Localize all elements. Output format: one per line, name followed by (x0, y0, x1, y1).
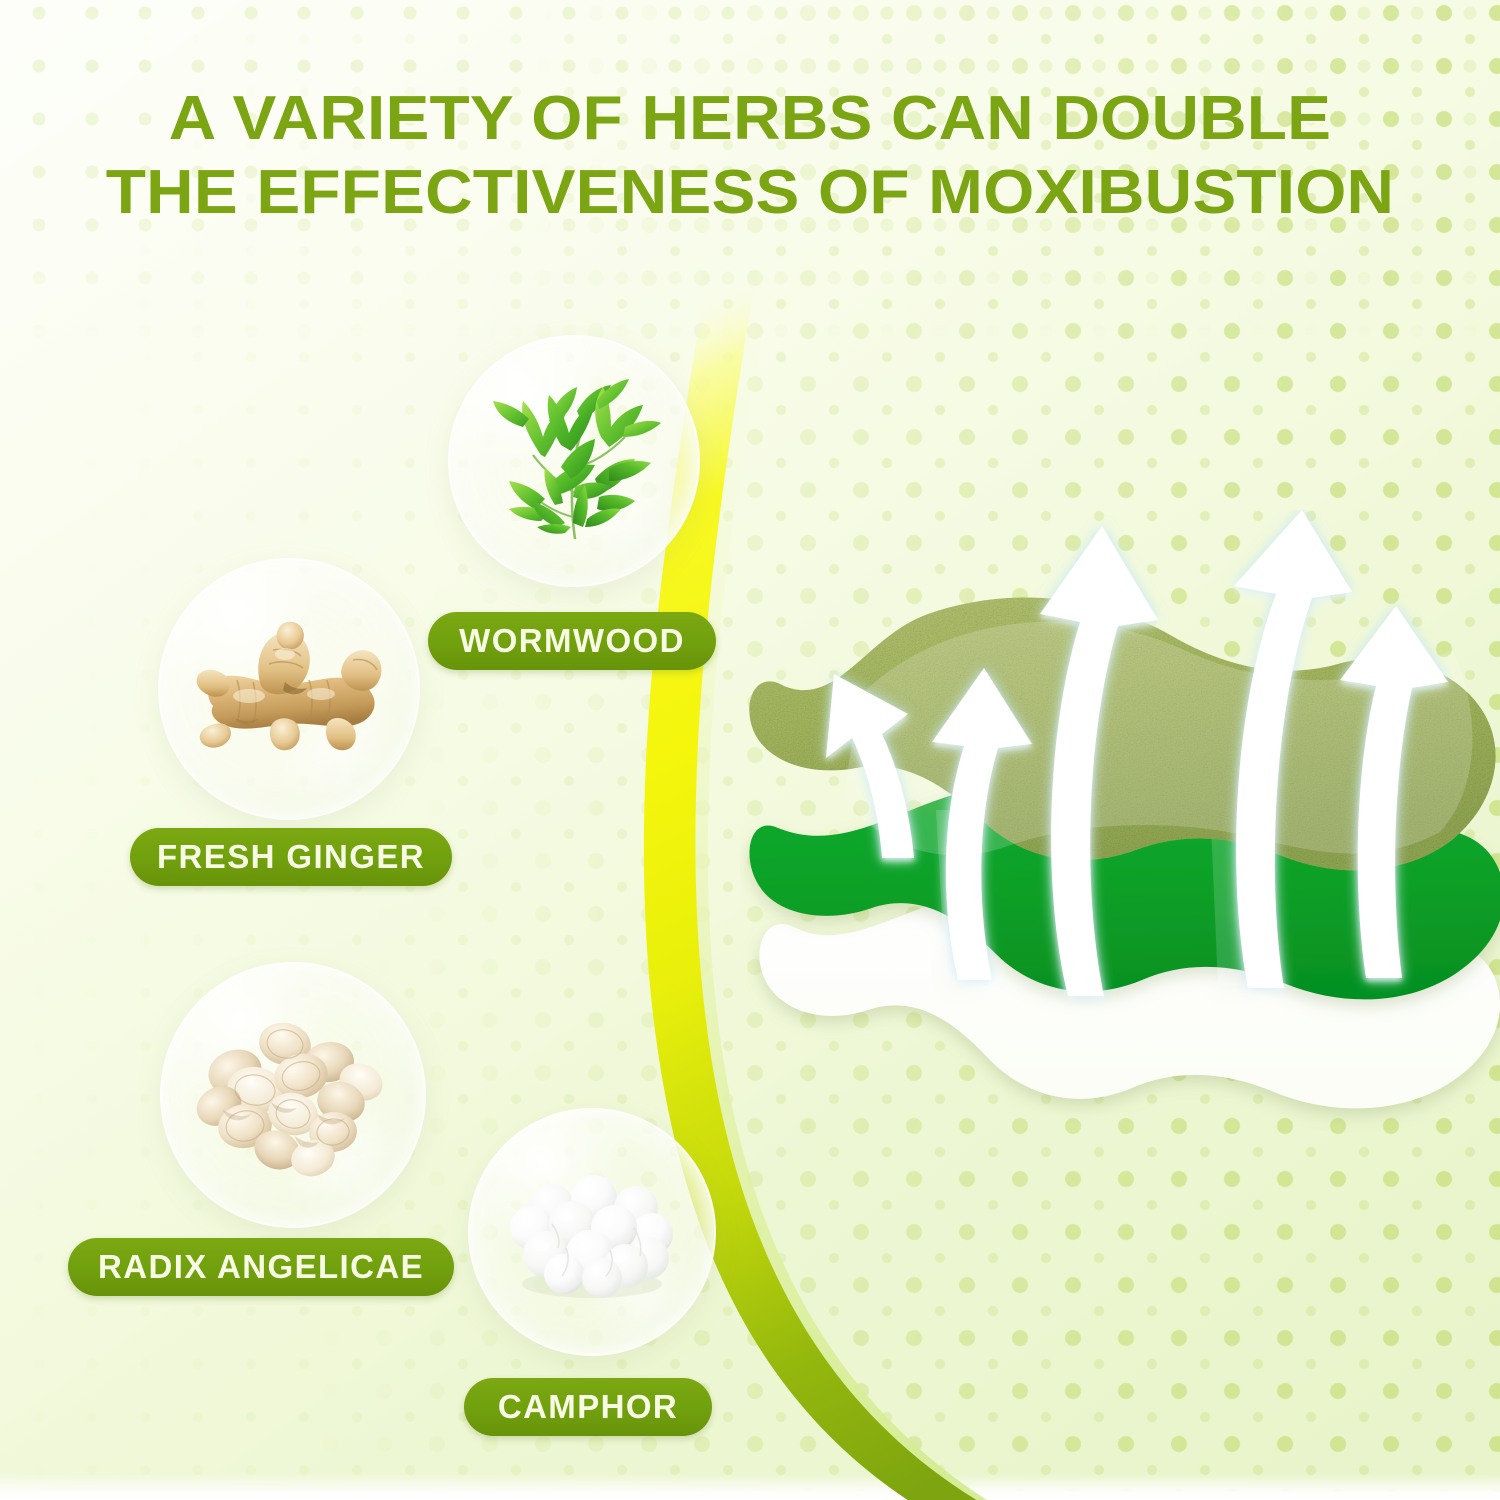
ingredient-label-radix-angelicae[interactable]: RADIX ANGELICAE (68, 1238, 454, 1296)
page-title: A VARIETY OF HERBS CAN DOUBLE THE EFFECT… (0, 82, 1500, 230)
camphor-balls-icon (468, 1108, 716, 1356)
ingredient-label-wormwood[interactable]: WORMWOOD (428, 612, 716, 670)
bottom-edge-fade (0, 1474, 1500, 1500)
ginger-root-icon (158, 558, 420, 820)
ingredient-bubble-radix-angelicae[interactable] (160, 962, 426, 1228)
ingredient-bubble-camphor[interactable] (468, 1108, 716, 1356)
three-layer-patch-illustration (740, 510, 1500, 1150)
page-title-line-2: THE EFFECTIVENESS OF MOXIBUSTION (0, 156, 1500, 230)
ingredient-bubble-fresh-ginger[interactable] (158, 558, 420, 820)
page-title-line-1: A VARIETY OF HERBS CAN DOUBLE (0, 82, 1500, 156)
angelica-root-slices-icon (160, 962, 426, 1228)
ingredient-label-fresh-ginger[interactable]: FRESH GINGER (130, 828, 452, 886)
ingredient-label-camphor[interactable]: CAMPHOR (464, 1378, 712, 1436)
infographic-canvas: A VARIETY OF HERBS CAN DOUBLE THE EFFECT… (0, 0, 1500, 1500)
ingredient-bubble-wormwood[interactable] (448, 335, 700, 587)
wormwood-leaf-sprig-icon (448, 335, 700, 587)
